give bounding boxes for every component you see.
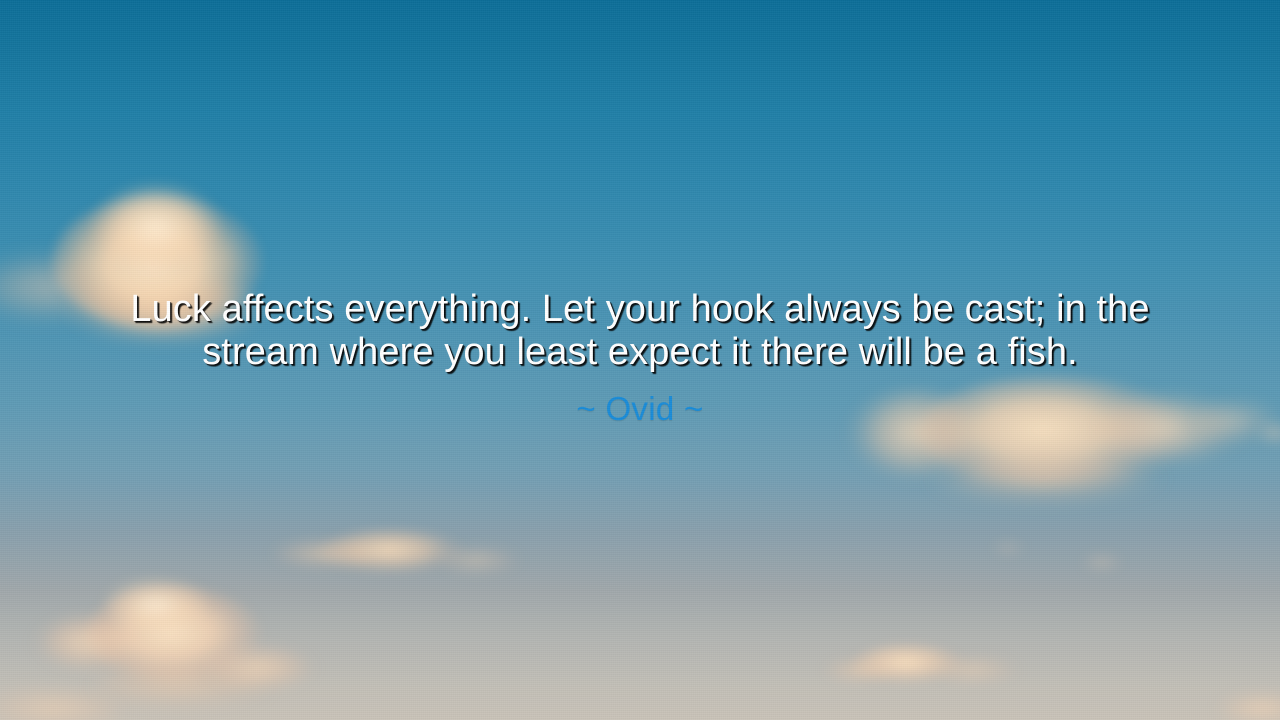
quote-text: Luck affects everything. Let your hook a… — [90, 288, 1190, 374]
quote-image-canvas: Luck affects everything. Let your hook a… — [0, 0, 1280, 720]
horizon-warm-glow — [0, 480, 1280, 720]
quote-author: ~ Ovid ~ — [576, 390, 703, 428]
quote-overlay: Luck affects everything. Let your hook a… — [0, 288, 1280, 428]
